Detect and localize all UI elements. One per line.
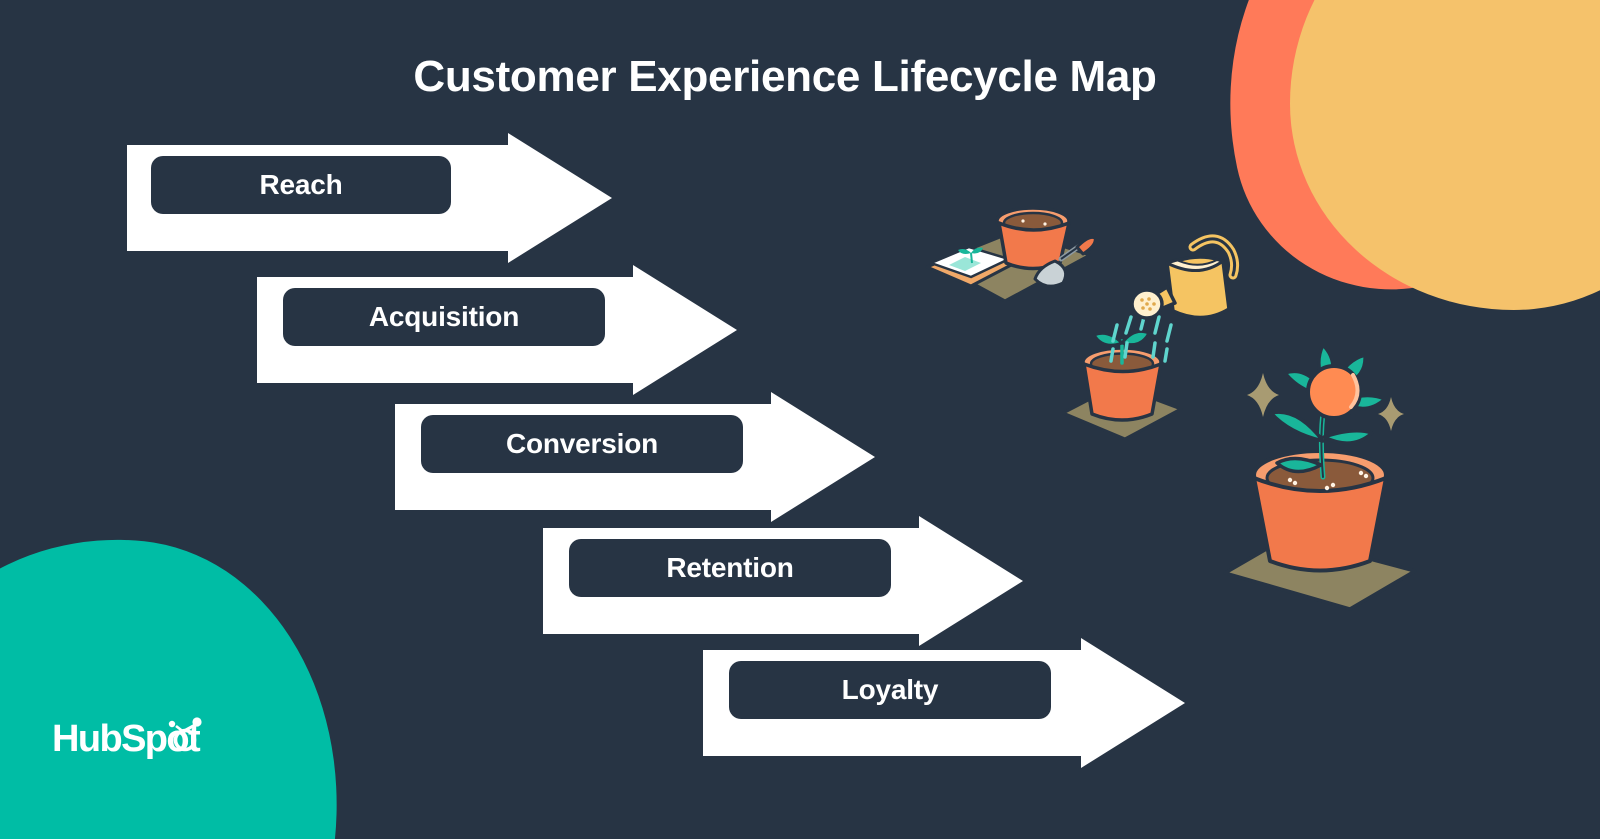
lifecycle-stage-retention[interactable]: Retention [543, 516, 1023, 646]
lifecycle-stage-loyalty[interactable]: Loyalty [703, 638, 1185, 768]
lifecycle-stage-reach[interactable]: Reach [127, 133, 612, 263]
lifecycle-stage-acquisition[interactable]: Acquisition [257, 265, 737, 395]
stage-label-acquisition: Acquisition [351, 301, 537, 333]
hubspot-wordmark-text: HubSpot [52, 718, 201, 760]
stage-label-loyalty: Loyalty [824, 674, 957, 706]
mature-plant-illustration [1215, 325, 1430, 615]
stage-label-pill-conversion: Conversion [421, 415, 743, 473]
stage-label-pill-acquisition: Acquisition [283, 288, 605, 346]
hubspot-logo-mark: HubSpot [52, 715, 227, 761]
decorative-blob-yellow [1290, 0, 1600, 310]
lifecycle-stage-conversion[interactable]: Conversion [395, 392, 875, 522]
stage-label-pill-reach: Reach [151, 156, 451, 214]
decorative-blob-coral [1180, 0, 1600, 319]
stage-label-reach: Reach [241, 169, 360, 201]
stage-label-conversion: Conversion [488, 428, 676, 460]
hubspot-logo[interactable]: HubSpot [52, 715, 227, 761]
decorative-blob-teal [0, 516, 364, 839]
page-title: Customer Experience Lifecycle Map [0, 52, 1570, 102]
watering-can-seedling-illustration [1055, 225, 1240, 460]
stage-label-pill-loyalty: Loyalty [729, 661, 1051, 719]
stage-label-pill-retention: Retention [569, 539, 891, 597]
stage-label-retention: Retention [648, 552, 811, 584]
infographic-canvas: Customer Experience Lifecycle Map [0, 0, 1600, 839]
